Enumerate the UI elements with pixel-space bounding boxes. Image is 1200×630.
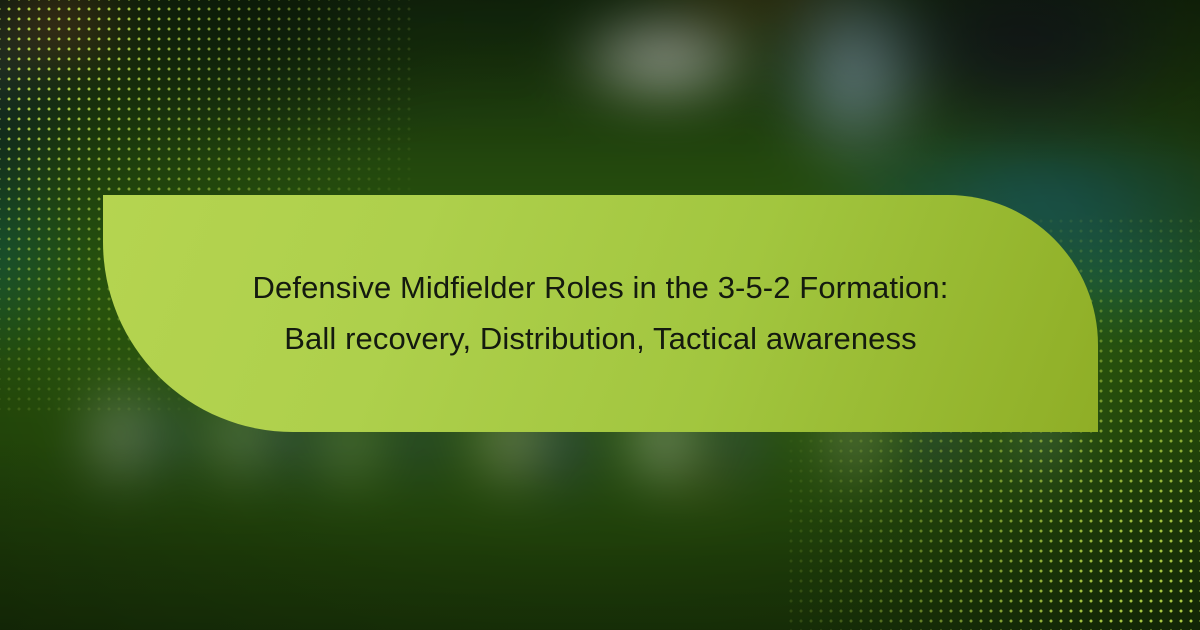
- social-card-canvas: Defensive Midfielder Roles in the 3-5-2 …: [0, 0, 1200, 630]
- page-title: Defensive Midfielder Roles in the 3-5-2 …: [253, 263, 949, 363]
- title-card: Defensive Midfielder Roles in the 3-5-2 …: [103, 195, 1098, 432]
